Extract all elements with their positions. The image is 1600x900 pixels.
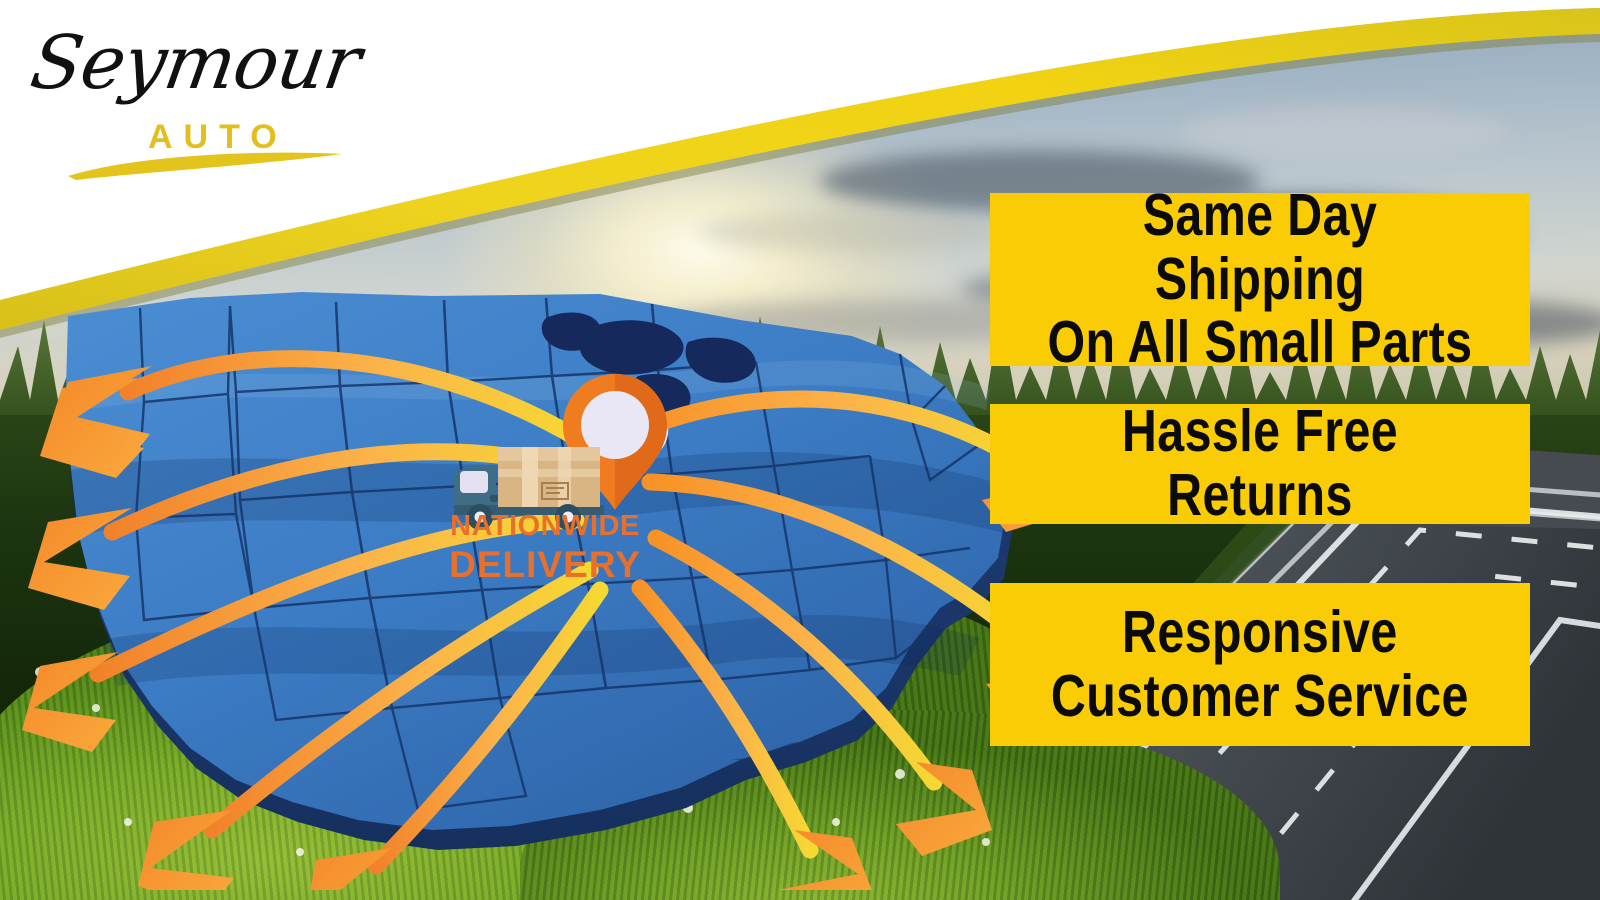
logo-wordmark-auto: AUTO	[148, 118, 288, 157]
feature-same-day-shipping[interactable]: Same Day Shipping On All Small Parts	[990, 193, 1530, 366]
feature-hassle-free-returns[interactable]: Hassle Free Returns	[990, 404, 1530, 524]
promotional-banner: Seymour AUTO	[0, 0, 1600, 900]
nationwide-delivery-label: NATIONWIDE DELIVERY	[425, 512, 665, 583]
logo-wordmark-script: Seymour	[25, 20, 366, 106]
delivery-label-line-1: NATIONWIDE	[425, 512, 665, 541]
feature-text: Hassle Free Returns	[1039, 400, 1482, 527]
feature-responsive-customer-service[interactable]: Responsive Customer Service	[990, 583, 1530, 746]
feature-text: Responsive Customer Service	[1051, 601, 1469, 728]
feature-text: Same Day Shipping On All Small Parts	[1039, 184, 1482, 375]
brand-logo[interactable]: Seymour AUTO	[30, 18, 350, 168]
delivery-label-line-2: DELIVERY	[425, 546, 665, 583]
nationwide-delivery-badge: NATIONWIDE DELIVERY	[430, 370, 660, 580]
